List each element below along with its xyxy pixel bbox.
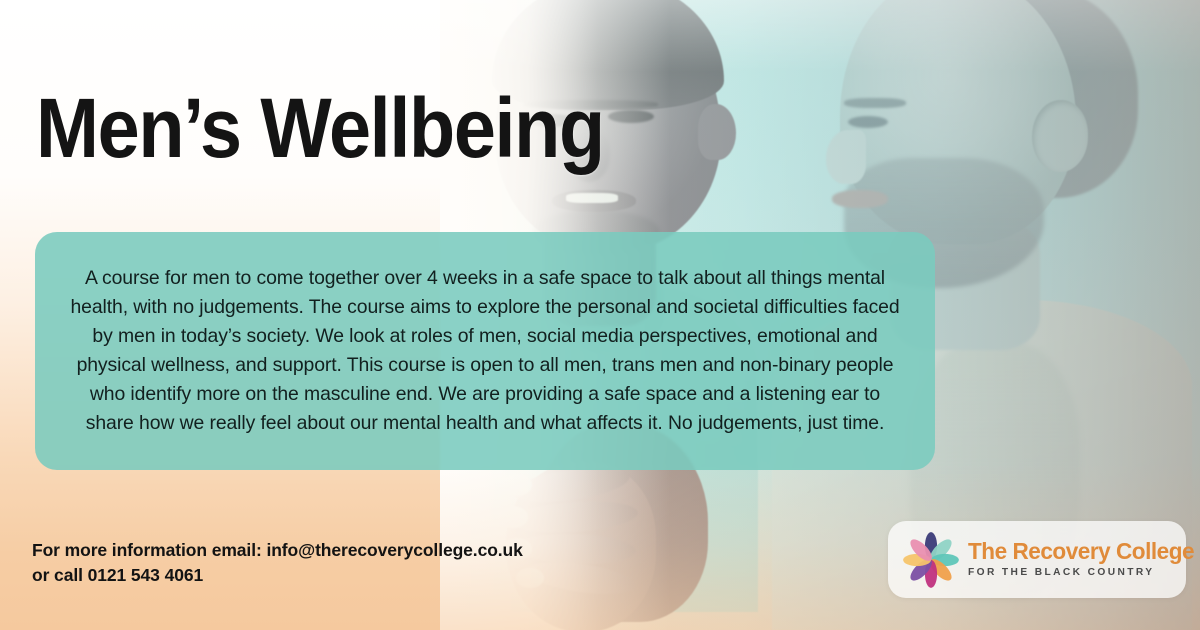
contact-phone-line[interactable]: or call 0121 543 4061: [32, 563, 523, 588]
logo-title: The Recovery College: [968, 539, 1194, 564]
recovery-college-logo[interactable]: The Recovery College FOR THE BLACK COUNT…: [888, 521, 1186, 598]
logo-wordmark: The Recovery College FOR THE BLACK COUNT…: [968, 539, 1200, 580]
poster-canvas: Men’s Wellbeing A course for men to come…: [0, 0, 1200, 630]
flower-petal-icon: [902, 531, 960, 589]
logo-subtitle: FOR THE BLACK COUNTRY: [968, 566, 1200, 580]
contact-block: For more information email: info@thereco…: [32, 538, 523, 588]
page-title: Men’s Wellbeing: [36, 86, 604, 170]
description-text: A course for men to come together over 4…: [65, 264, 905, 438]
description-card: A course for men to come together over 4…: [35, 232, 935, 470]
contact-email-line[interactable]: For more information email: info@thereco…: [32, 538, 523, 563]
